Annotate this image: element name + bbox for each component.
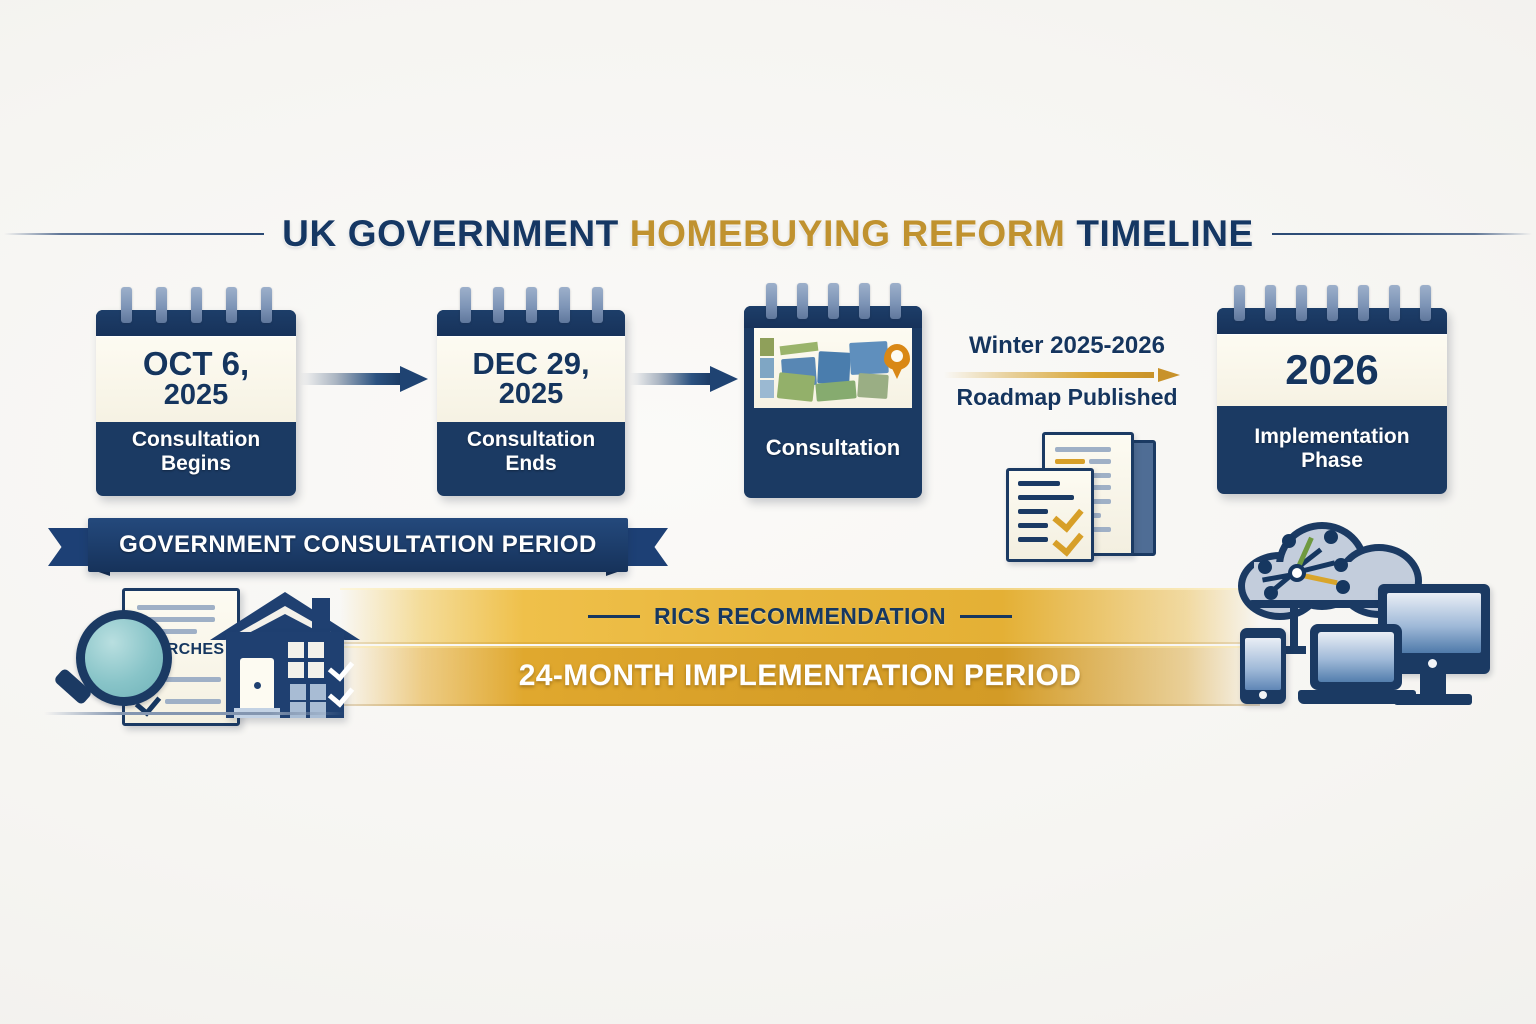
milestone-label-line1: Implementation [1254,425,1409,449]
milestone-card-consultation-map: Consultation [744,306,922,498]
baseline-rule [44,712,344,715]
network-node [1282,534,1296,548]
network-node [1264,586,1278,600]
milestone-label-line1: Consultation [766,436,900,461]
milestone-label: Consultation Begins [96,422,296,502]
title-part-government: UK GOVERNMENT [282,213,630,254]
arrow-head [400,366,428,392]
rule-left [588,615,640,618]
arrow-shaft [630,373,712,385]
monitor-neck [1420,674,1446,696]
title-rule-left [4,233,264,235]
location-pin-icon [884,344,910,370]
calendar-header [1217,308,1447,334]
milestone-label: Consultation [744,408,922,488]
network-node [1334,558,1348,572]
implementation-period-label: 24-MONTH IMPLEMENTATION PERIOD [519,659,1082,693]
calendar-header [744,306,922,328]
rule-right [960,615,1012,618]
laptop-icon [1310,624,1402,690]
milestone-date: OCT 6, [143,347,249,380]
cloud-devices-icon [1232,518,1498,724]
milestone-card-consultation-ends: DEC 29, 2025 Consultation Ends [437,310,625,496]
page-title: UK GOVERNMENT HOMEBUYING REFORM TIMELINE [282,213,1254,255]
title-rule-right [1272,233,1532,235]
laptop-base [1298,690,1416,704]
network-node [1288,564,1306,582]
phone-icon [1240,628,1286,704]
window-pane [308,662,324,678]
milestone-card-consultation-begins: OCT 6, 2025 Consultation Begins [96,310,296,496]
gold-stripe-recommendation: RICS RECOMMENDATION [340,588,1260,644]
milestone-label: Implementation Phase [1217,406,1447,492]
calendar-header [96,310,296,336]
timeline-arrow-gold [944,368,1180,382]
milestone-label-line1: Consultation [467,428,595,452]
infographic-canvas: UK GOVERNMENT HOMEBUYING REFORM TIMELINE… [0,0,1536,1024]
window-pane [310,684,326,700]
gold-stripe-period: 24-MONTH IMPLEMENTATION PERIOD [340,646,1260,706]
network-node [1324,530,1338,544]
milestone-date: 2026 [1285,349,1378,391]
milestone-date: DEC 29, [472,348,589,379]
title-part-timeline: TIMELINE [1076,213,1253,254]
window-pane [290,702,306,718]
title-row: UK GOVERNMENT HOMEBUYING REFORM TIMELINE [0,206,1536,262]
calendar-date-panel: DEC 29, 2025 [437,336,625,422]
arrow-head [710,366,738,392]
milestone-year: 2025 [164,380,229,410]
document-front [1006,468,1094,562]
arrow-shaft [300,373,402,385]
timeline-arrow-1 [300,366,428,392]
calendar-header [437,310,625,336]
window-pane [290,684,306,700]
milestone-card-implementation-phase: 2026 Implementation Phase [1217,308,1447,494]
network-node [1336,580,1350,594]
document-stack-icon [994,424,1174,574]
milestone-label: Consultation Ends [437,422,625,502]
window-pane [310,702,326,718]
calendar-date-panel: 2026 [1217,334,1447,406]
implementation-period-banner: RICS RECOMMENDATION 24-MONTH IMPLEMENTAT… [340,588,1260,706]
window-pane [288,642,304,658]
ribbon-label: GOVERNMENT CONSULTATION PERIOD [119,531,597,559]
milestone-label-line1: Consultation [132,428,260,452]
title-part-homebuying-reform: HOMEBUYING REFORM [630,213,1077,254]
ribbon-body: GOVERNMENT CONSULTATION PERIOD [88,518,628,572]
arrow-head [1158,368,1180,382]
consultation-period-ribbon: GOVERNMENT CONSULTATION PERIOD [48,518,668,572]
milestone-label-line2: Ends [505,452,556,476]
window-pane [288,662,304,678]
timeline-arrow-2 [630,366,738,392]
winter-period: Winter 2025-2026 [944,332,1190,360]
window-pane [308,642,324,658]
network-node [1258,560,1272,574]
winter-event: Roadmap Published [944,384,1190,411]
milestone-year: 2025 [499,379,564,409]
map-icon [754,328,912,408]
milestone-label-line2: Begins [161,452,231,476]
check-icon [1052,524,1083,556]
door-knob [254,682,261,689]
rics-recommendation-label: RICS RECOMMENDATION [654,603,946,630]
milestone-label-line2: Phase [1301,449,1363,473]
calendar-date-panel: OCT 6, 2025 [96,336,296,422]
arrow-shaft [944,372,1154,378]
